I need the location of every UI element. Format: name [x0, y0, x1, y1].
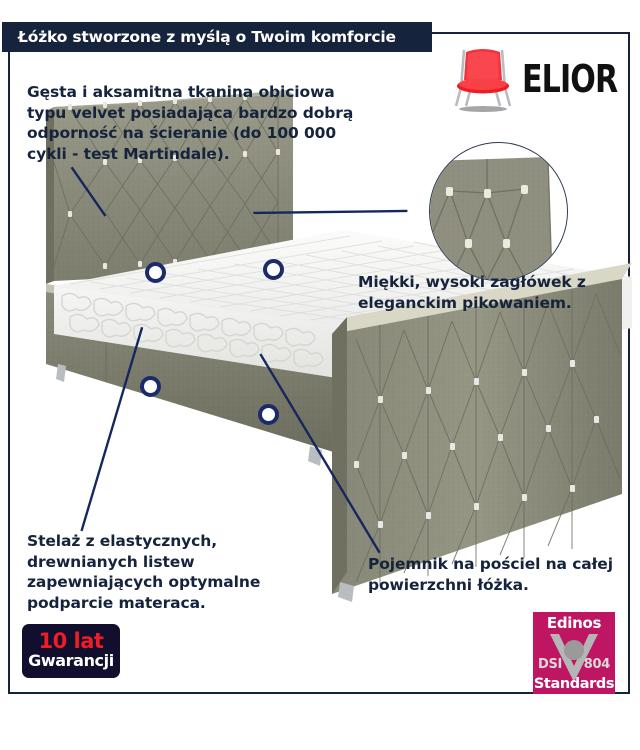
edinos-code-left: DSI [538, 657, 562, 672]
infographic-frame: Łóżko stworzone z myślą o Twoim komforci… [8, 32, 630, 694]
edinos-standards-label: Standards [533, 676, 615, 692]
callout-marker-storage[interactable] [258, 404, 279, 425]
warranty-label: Gwarancji [28, 652, 114, 670]
warranty-badge: 10 lat Gwarancji [22, 624, 120, 678]
edinos-code-right: 804 [584, 657, 610, 672]
callout-marker-headboard[interactable] [263, 259, 284, 280]
edinos-badge: Edinos DSI 804 Standards [533, 612, 615, 694]
callout-marker-fabric-left[interactable] [145, 262, 166, 283]
warranty-years: 10 lat [39, 631, 104, 652]
banner-title: Łóżko stworzone z myślą o Twoim komforci… [18, 28, 396, 46]
callout-leader-lines [10, 34, 628, 692]
callout-marker-slats[interactable] [140, 376, 161, 397]
header-banner: Łóżko stworzone z myślą o Twoim komforci… [2, 22, 432, 52]
